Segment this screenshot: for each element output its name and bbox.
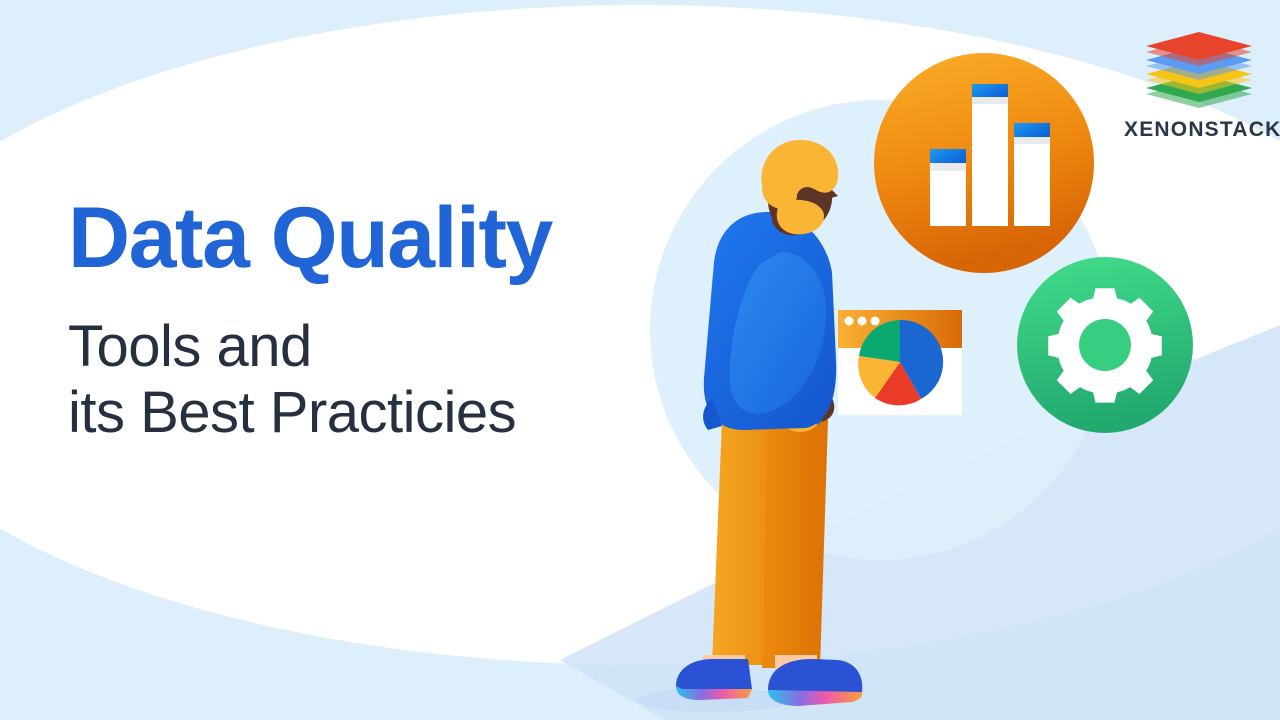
bar-3	[1014, 123, 1050, 226]
person-shoe-right	[768, 659, 862, 706]
gear-icon	[1048, 288, 1162, 402]
brand-logo[interactable]: XENONSTACK	[1124, 28, 1274, 142]
person-ear	[783, 189, 797, 203]
pie-chart-window	[838, 310, 962, 415]
window-dot-1	[845, 317, 854, 326]
person-shoe-left	[676, 659, 752, 700]
stack-layers-icon	[1134, 28, 1264, 114]
gear-badge	[1017, 257, 1193, 433]
page-subtitle: Tools and its Best Practicies	[68, 280, 708, 445]
bar-1	[930, 149, 966, 226]
banner-canvas: Data Quality Tools and its Best Practici…	[0, 0, 1280, 720]
bar-2	[972, 84, 1008, 226]
page-subtitle-line-2: its Best Practicies	[68, 380, 708, 446]
window-dot-2	[858, 317, 867, 326]
brand-wordmark: XENONSTACK	[1124, 118, 1274, 142]
window-dot-3	[871, 317, 880, 326]
headline-block: Data Quality Tools and its Best Practici…	[68, 196, 708, 445]
page-title: Data Quality	[68, 196, 708, 280]
gear-center-hole	[1079, 319, 1131, 371]
page-subtitle-line-1: Tools and	[68, 314, 312, 379]
bar-chart-badge	[874, 53, 1094, 273]
person-leg-right	[762, 420, 828, 668]
